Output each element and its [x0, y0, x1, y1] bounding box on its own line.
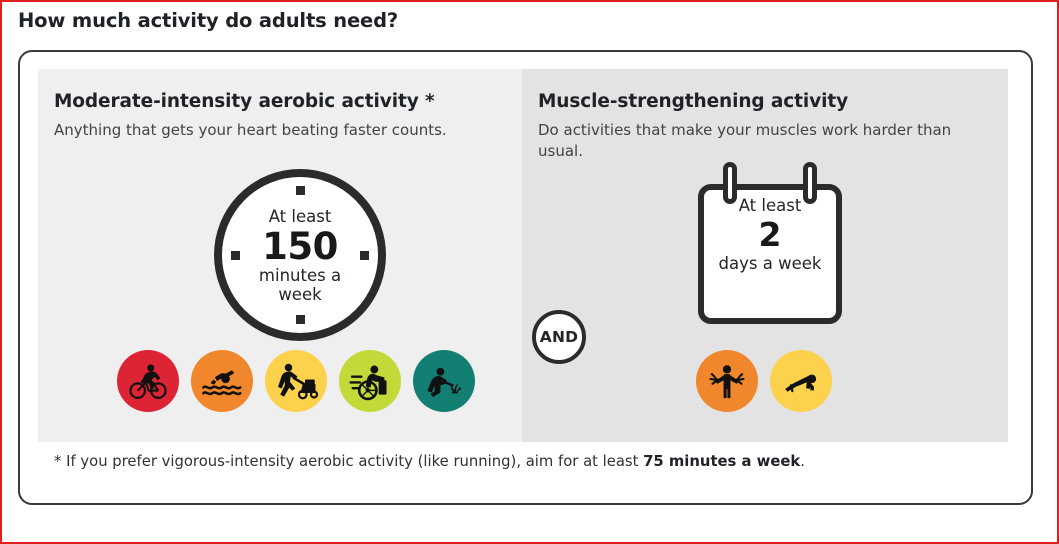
clock-unit-line-2: week — [278, 285, 321, 304]
calendar-graphic: At least 2 days a week — [698, 162, 842, 324]
wheelchair-racing-icon — [339, 350, 401, 412]
push-up-icon — [770, 350, 832, 412]
activity-guidelines-card: Moderate-intensity aerobic activity * An… — [18, 50, 1033, 505]
panel-moderate-heading: Moderate-intensity aerobic activity * — [54, 91, 522, 112]
clock-prefix: At least — [269, 207, 332, 227]
footnote-prefix: * If you prefer vigorous-intensity aerob… — [54, 453, 643, 470]
footnote-emphasis: 75 minutes a week — [643, 453, 800, 470]
muscle-activity-icons — [696, 350, 832, 412]
panel-muscle-strengthening: Muscle-strengthening activity Do activit… — [522, 69, 1008, 442]
footnote-suffix: . — [800, 453, 805, 470]
clock-amount: 150 — [262, 227, 338, 266]
weight-lifting-icon — [696, 350, 758, 412]
footnote: * If you prefer vigorous-intensity aerob… — [54, 452, 805, 472]
calendar-amount: 2 — [698, 216, 842, 254]
clock-graphic: At least 150 minutes a week — [214, 169, 386, 341]
panels-container: Moderate-intensity aerobic activity * An… — [38, 69, 1008, 442]
clock-unit-line-1: minutes a — [259, 266, 341, 285]
panel-muscle-heading: Muscle-strengthening activity — [538, 91, 1008, 112]
cycling-icon — [117, 350, 179, 412]
panel-moderate-subtitle: Anything that gets your heart beating fa… — [54, 120, 484, 141]
gardening-icon — [413, 350, 475, 412]
calendar-text: At least 2 days a week — [698, 196, 842, 273]
calendar-unit-line-1: days a week — [698, 254, 842, 273]
moderate-activity-icons — [117, 350, 475, 412]
lawn-mowing-icon — [265, 350, 327, 412]
panel-moderate-intensity: Moderate-intensity aerobic activity * An… — [38, 69, 522, 442]
calendar-prefix: At least — [698, 196, 842, 216]
and-connector-badge: AND — [532, 310, 586, 364]
panel-muscle-subtitle: Do activities that make your muscles wor… — [538, 120, 968, 162]
clock-text: At least 150 minutes a week — [214, 169, 386, 341]
page-title: How much activity do adults need? — [18, 9, 398, 32]
swimming-icon — [191, 350, 253, 412]
